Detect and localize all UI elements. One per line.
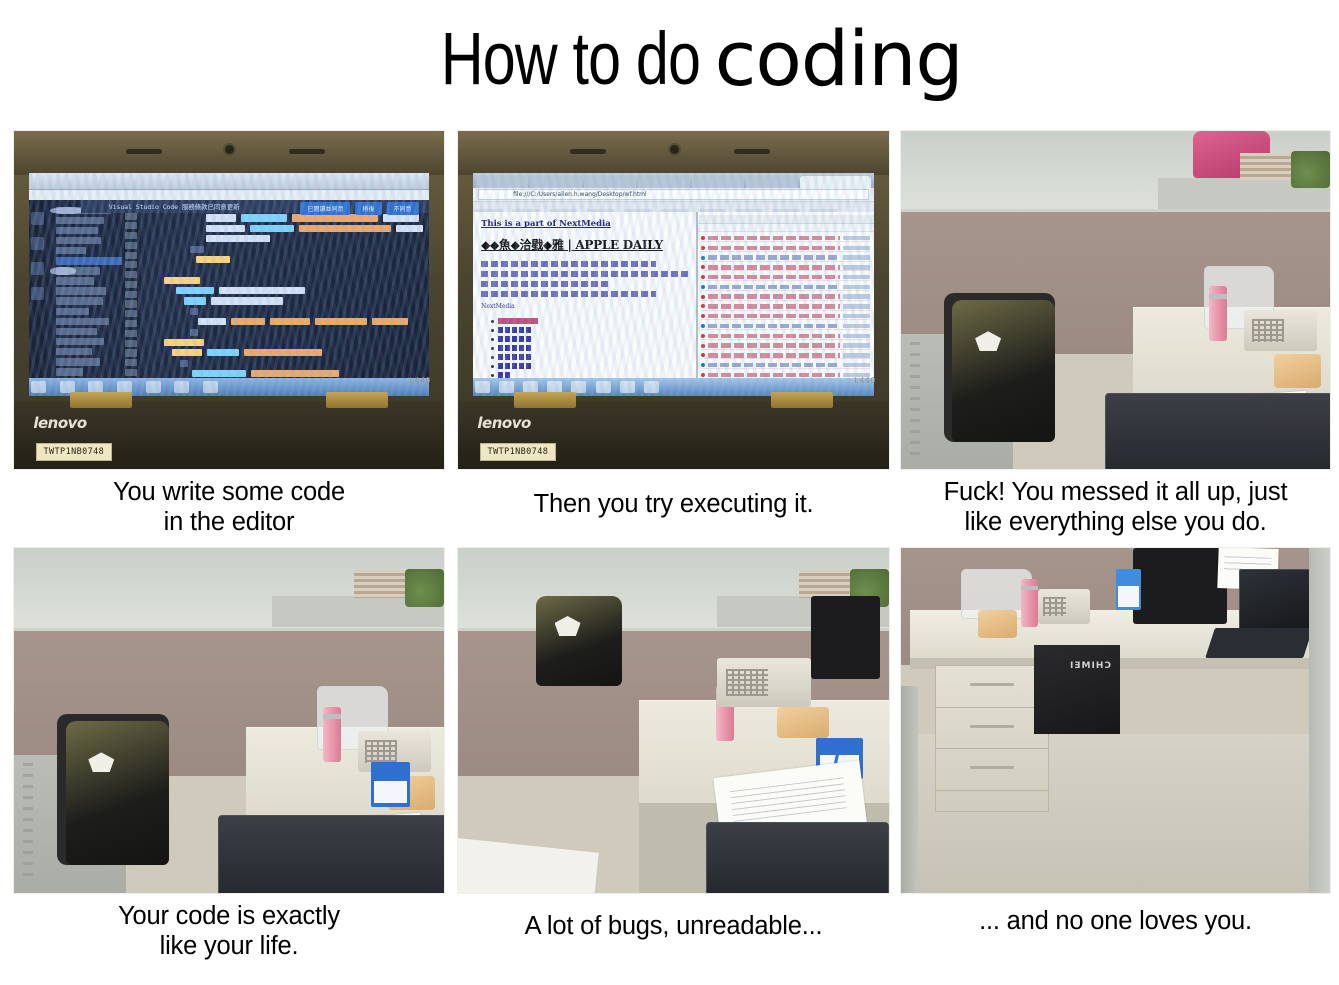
browser-tab[interactable] [746,176,798,187]
panel-write-code-photo: Visual Studio Code 服務條款已同意更新 已閱讀並同意 稍後 不… [14,131,444,469]
page-footer-link[interactable]: NextMedia [481,303,689,310]
pink-thermos [1021,579,1038,627]
notification-later-button[interactable]: 稍後 [355,202,381,215]
box-brand-label: CHIMEI [1069,661,1111,671]
browser-tab-active[interactable] [800,176,871,187]
console-info-row[interactable] [701,362,870,369]
panel-caption: ... and no one loves you. [889,906,1339,936]
bezel-vent-right [289,149,325,154]
page-subheading: ◆◆魚◆洽戥◆雅 | APPLE DAILY [481,236,689,253]
console-info-row[interactable] [701,254,870,261]
panel-no-one-loves-you-photo: CHIMEI [901,548,1330,893]
monitor-box-chimei: CHIMEI [1034,645,1120,735]
console-error-row[interactable] [701,245,870,252]
page-title: How to do coding [0,0,1339,118]
notification-decline-button[interactable]: 不同意 [387,202,419,215]
office-cubicle-scene [458,548,889,893]
laptop-lenovo: Visual Studio Code 服務條款已同意更新 已閱讀並同意 稍後 不… [14,131,444,469]
taskbar-item[interactable] [31,381,46,392]
info-icon [701,324,705,328]
console-error-row[interactable] [701,235,870,242]
editor-notification-bar[interactable]: Visual Studio Code 服務條款已同意更新 已閱讀並同意 稍後 不… [81,200,429,213]
notification-accept-button[interactable]: 已閱讀並同意 [300,202,350,215]
file-tree-item[interactable] [56,237,102,245]
taskbar-item[interactable] [117,381,132,392]
info-icon [701,363,705,367]
panel-messed-up-photo [901,131,1330,469]
devtools-filter-bar[interactable] [698,224,874,232]
laptop-lenovo: file:///C:/Users/allen.h.wang/Desktop/wf… [458,131,889,469]
taskbar-item[interactable] [174,381,189,392]
debug-icon[interactable] [31,287,44,300]
asset-tag-sticker: TWTP1NB0748 [36,443,113,461]
search-icon[interactable] [31,237,44,250]
list-item[interactable] [491,318,689,324]
cubicle-divider-right [1309,548,1330,893]
pink-thermos [323,707,341,762]
panel-bugs: A lot of bugs, unreadable... [458,548,889,893]
file-tree-item[interactable] [56,328,97,336]
explorer-section-header [50,207,85,215]
info-icon [701,285,705,289]
browser-tab[interactable] [692,176,744,187]
rendered-page: This is a part of NextMedia ◆◆魚◆洽戥◆雅 | A… [473,212,695,378]
laptop-hinge-right [771,392,833,408]
editor-notification-actions[interactable]: 已閱讀並同意 稍後 不同意 [300,202,418,215]
page-heading: This is a part of NextMedia [481,219,689,229]
file-tree-item[interactable] [56,277,94,285]
laptop-brand-logo: lenovo [477,414,530,432]
potted-plant [1291,151,1330,188]
bezel-vent-left [126,149,162,154]
laptop-brand-logo: lenovo [33,414,86,432]
desk-phone [717,658,812,706]
file-tree-item[interactable] [56,318,109,326]
info-icon [701,256,705,260]
panel-execute: file:///C:/Users/allen.h.wang/Desktop/wf… [458,131,889,469]
panel-write-code: Visual Studio Code 服務條款已同意更新 已閱讀並同意 稍後 不… [14,131,444,469]
file-tree-item[interactable] [56,287,106,295]
file-explorer[interactable] [46,200,122,378]
error-icon [701,304,705,308]
laptop-model-label: L440 [409,376,431,385]
page-title-prefix: How to do [441,22,700,96]
panel-your-life: Your code is exactly like your life. [14,548,444,893]
taskbar-item[interactable] [499,381,514,392]
panel-no-one-loves-you: CHIMEI [901,548,1330,893]
console-error-row[interactable] [701,333,870,340]
file-tree-item[interactable] [56,217,105,225]
id-badge [371,762,410,807]
list-item[interactable] [491,327,689,333]
office-cubicle-scene [901,131,1330,469]
cabinet-drawer[interactable] [936,708,1048,750]
editor-code-area[interactable] [140,200,429,378]
error-icon [701,236,705,240]
file-tree-item[interactable] [56,358,100,366]
page-title-emphasis: coding [715,21,963,97]
id-badge-holder [1116,569,1142,610]
panel-your-life-photo [14,548,444,893]
cabinet-drawer[interactable] [936,666,1048,708]
panel-caption: A lot of bugs, unreadable... [446,911,901,941]
editor-notification-text: Visual Studio Code 服務條款已同意更新 [109,202,240,211]
panel-caption: Your code is exactly like your life. [2,901,456,961]
office-cubicle-scene [14,548,444,893]
taskbar-item[interactable] [547,381,562,392]
laptop-hinge-left [514,392,576,408]
error-icon [701,265,705,269]
list-item[interactable] [491,363,689,369]
file-tree-item[interactable] [56,227,99,235]
snack-pack [777,707,829,738]
error-icon [701,314,705,318]
editor-titlebar [29,173,429,190]
error-icon [701,353,705,357]
list-item[interactable] [491,345,689,351]
console-info-row[interactable] [701,284,870,291]
error-icon [701,373,705,377]
taskbar-item[interactable] [644,381,659,392]
panel-caption: Fuck! You messed it all up, just like ev… [889,477,1339,537]
laptop-foreground [1105,393,1330,469]
taskbar-item[interactable] [523,381,538,392]
taskbar-item[interactable] [146,381,161,392]
devtools-panel[interactable] [696,212,874,378]
list-item[interactable] [491,336,689,342]
bezel-vent-right [734,149,770,154]
laptop-screen: Visual Studio Code 服務條款已同意更新 已閱讀並同意 稍後 不… [29,173,429,396]
editor-line-numbers [122,200,140,378]
laptop-keyboard[interactable] [1205,628,1313,658]
laptop-hinge-right [326,392,388,408]
console-error-row[interactable] [701,303,870,310]
cubicle-divider-left [901,686,918,893]
desk-phone [1038,589,1089,624]
jacket-on-chair [66,721,169,866]
error-icon [701,246,705,250]
taskbar-item[interactable] [571,381,586,392]
editor-activity-bar[interactable] [29,200,46,378]
file-tree-item[interactable] [56,348,92,356]
panel-caption: You write some code in the editor [2,477,456,537]
error-icon [701,295,705,299]
url-text: file:///C:/Users/allen.h.wang/Desktop/wf… [513,191,647,198]
taskbar-item[interactable] [60,381,75,392]
office-cubicle-scene-floor: CHIMEI [901,548,1330,893]
potted-plant [405,569,444,607]
webcam-icon [225,145,234,154]
asset-tag-sticker: TWTP1NB0748 [480,443,557,461]
browser-tab[interactable] [584,176,636,187]
taskbar-item[interactable] [88,381,103,392]
laptop-model-label: L440 [854,376,876,385]
file-tree-item[interactable] [56,338,105,346]
browser-tab[interactable] [476,176,528,187]
console-error-row[interactable] [701,264,870,271]
taskbar-item[interactable] [475,381,490,392]
file-tree-item[interactable] [56,247,86,255]
code-editor-window: Visual Studio Code 服務條款已同意更新 已閱讀並同意 稍後 不… [29,173,429,396]
laptop-foreground [706,822,889,893]
page-text-line [481,261,656,267]
laptop-screen: file:///C:/Users/allen.h.wang/Desktop/wf… [473,173,874,396]
console-error-row[interactable] [701,313,870,320]
cubicle-foreground-edge [458,837,599,893]
panel-messed-up: Fuck! You messed it all up, just like ev… [901,131,1330,469]
panel-caption: Then you try executing it. [446,489,901,519]
list-item[interactable] [491,354,689,360]
filing-cabinet [935,665,1049,812]
console-info-row[interactable] [701,323,870,330]
page-text-line [481,281,610,287]
jacket-on-chair [536,596,622,686]
browser-tab[interactable] [638,176,690,187]
taskbar-item[interactable] [620,381,635,392]
panel-execute-photo: file:///C:/Users/allen.h.wang/Desktop/wf… [458,131,889,469]
explorer-icon[interactable] [31,212,44,225]
devtools-tab-strip[interactable] [698,215,874,224]
file-tree-item[interactable] [56,308,89,316]
source-control-icon[interactable] [31,262,44,275]
snack-pack [1274,354,1321,388]
desk-phone [1244,310,1317,351]
page-text-line [481,291,656,297]
browser-window: file:///C:/Users/allen.h.wang/Desktop/wf… [473,173,874,396]
cabinet-drawer[interactable] [936,749,1048,791]
browser-address-bar[interactable]: file:///C:/Users/allen.h.wang/Desktop/wf… [473,188,874,202]
error-icon [701,334,705,338]
webcam-icon [670,145,679,154]
file-tree-item-selected[interactable] [56,257,126,265]
console-error-row[interactable] [701,294,870,301]
taskbar-item[interactable] [203,381,218,392]
snack-pack [978,610,1017,638]
console-error-row[interactable] [701,342,870,349]
error-icon [701,344,705,348]
file-tree-item[interactable] [56,297,103,305]
page-text-line [481,271,689,277]
browser-tab-strip[interactable] [473,173,874,188]
jacket-on-chair [952,300,1055,442]
error-icon [701,275,705,279]
pink-thermos [1209,286,1227,340]
laptop-open [1210,569,1322,659]
laptop-hinge-left [70,392,132,408]
taskbar-item[interactable] [596,381,611,392]
bezel-vent-left [570,149,606,154]
monitor-tower [811,596,880,679]
laptop-foreground [218,815,444,893]
console-error-row[interactable] [701,352,870,359]
file-tree-item[interactable] [56,368,83,376]
browser-viewport: This is a part of NextMedia ◆◆魚◆洽戥◆雅 | A… [473,212,874,378]
panel-bugs-photo [458,548,889,893]
browser-tab[interactable] [530,176,582,187]
meme-panel-grid: Visual Studio Code 服務條款已同意更新 已閱讀並同意 稍後 不… [0,118,1339,985]
console-error-row[interactable] [701,274,870,281]
explorer-section-header [50,267,76,275]
list-item[interactable] [491,372,689,378]
